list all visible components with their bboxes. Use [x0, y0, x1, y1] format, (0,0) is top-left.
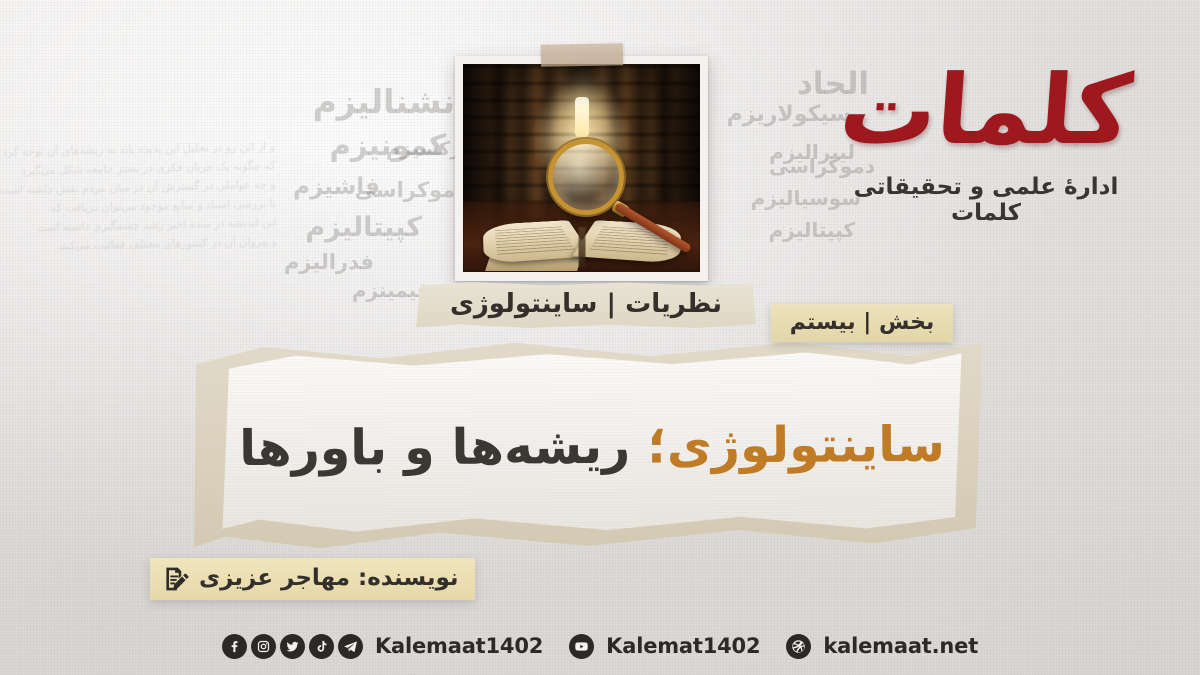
- cloud-word: کپیتالیزم: [305, 212, 422, 243]
- website-url[interactable]: kalemaat.net: [823, 634, 978, 658]
- telegram-icon[interactable]: [338, 634, 363, 659]
- document-pen-icon: [162, 564, 190, 594]
- background-ghost-text: و از این رو در تحلیل این پدیده باید به ر…: [0, 137, 277, 257]
- title-paper-strip: ساینتولوژی؛ ریشه‌ها و باورها: [221, 350, 962, 535]
- book-right-page: [571, 220, 680, 264]
- cloud-word: فیمینزم: [352, 278, 430, 302]
- social-handle[interactable]: Kalemaat1402: [375, 634, 543, 658]
- instagram-icon[interactable]: [251, 634, 276, 659]
- facebook-icon[interactable]: [222, 634, 247, 659]
- social-group-youtube: Kalemat1402: [569, 634, 786, 659]
- article-photo-frame: [455, 56, 708, 281]
- social-handle[interactable]: Kalemat1402: [606, 634, 760, 658]
- poster-canvas: و از این رو در تحلیل این پدیده باید به ر…: [0, 0, 1200, 675]
- title-highlight: ساینتولوژی؛: [647, 415, 945, 474]
- social-icon-row: [569, 634, 598, 659]
- page-title: ساینتولوژی؛ ریشه‌ها و باورها: [239, 415, 945, 476]
- social-group-main: Kalemaat1402: [222, 634, 569, 659]
- author-label: نویسنده: مهاجر عزیزی: [199, 565, 459, 591]
- category-banner: نظریات | ساینتولوژی: [416, 282, 756, 328]
- logo-subtitle: ادارۀ علمی و تحقیقاتی کلمات: [826, 174, 1146, 226]
- category-banner-label: نظریات | ساینتولوژی: [450, 289, 722, 319]
- tape-strip: [540, 43, 622, 66]
- cloud-word: فدرالیزم: [284, 250, 374, 274]
- social-icon-row: [222, 634, 367, 659]
- part-tag-label: بخش | بیستم: [790, 310, 934, 335]
- cloud-word: نشنالیزم: [313, 82, 455, 121]
- tiktok-icon[interactable]: [309, 634, 334, 659]
- logo-wordmark: کلمات: [837, 62, 1136, 158]
- magnifying-glass-lens: [548, 139, 624, 215]
- book-left-page: [482, 220, 591, 264]
- social-group-website: kalemaat.net: [786, 634, 978, 659]
- twitter-icon[interactable]: [280, 634, 305, 659]
- title-rest: ریشه‌ها و باورها: [239, 417, 630, 476]
- website-globe-icon[interactable]: [786, 634, 811, 659]
- social-icon-row: [786, 634, 815, 659]
- youtube-icon[interactable]: [569, 634, 594, 659]
- library-photo: [463, 64, 700, 272]
- book-spine: [578, 227, 585, 267]
- part-tag: بخش | بیستم: [771, 304, 953, 342]
- cloud-word: فاشیزم: [293, 174, 380, 200]
- author-tag: نویسنده: مهاجر عزیزی: [150, 558, 475, 600]
- brand-logo: کلمات ادارۀ علمی و تحقیقاتی کلمات: [826, 62, 1146, 226]
- footer-social-bar: Kalemaat1402 Kalemat1402 kalemaat.net: [0, 634, 1200, 659]
